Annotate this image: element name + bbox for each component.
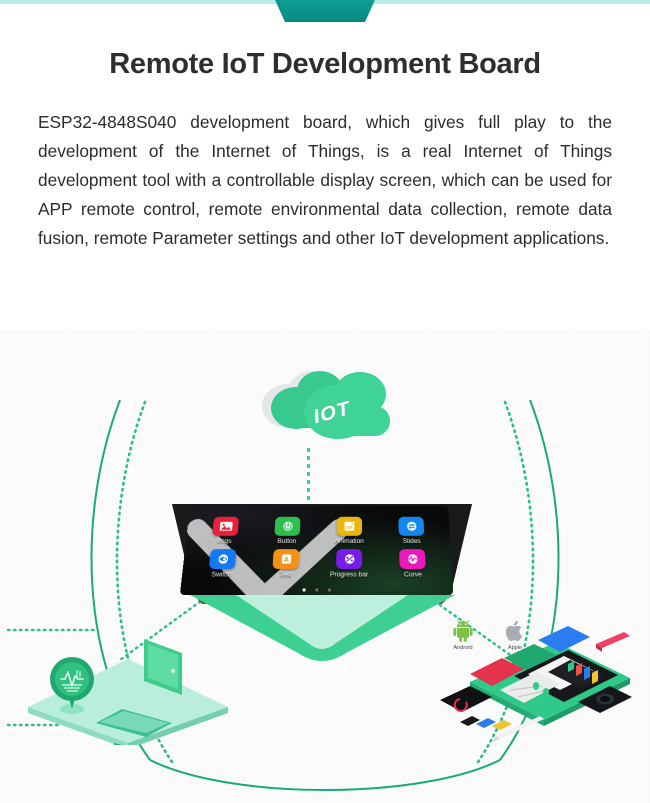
- app-tile[interactable]: Slides: [380, 517, 443, 545]
- page-description: ESP32-4848S040 development board, which …: [38, 108, 612, 253]
- top-notch-shape: [275, 0, 375, 22]
- platform-label: Apple: [492, 645, 538, 651]
- platform-label: Android: [440, 645, 486, 651]
- curve-icon: [405, 553, 420, 565]
- app-tile[interactable]: Switch: [189, 549, 255, 578]
- app-tile[interactable]: GIF Animation: [318, 517, 381, 545]
- page-dot[interactable]: [315, 588, 318, 591]
- app-icon[interactable]: [336, 549, 362, 569]
- image-icon: [218, 521, 233, 532]
- android-icon: [440, 618, 486, 644]
- app-label: Switch: [211, 571, 231, 578]
- platform-logos: Android Apple: [440, 618, 570, 664]
- svg-text:GIF: GIF: [345, 524, 353, 529]
- iot-cloud-graphic: IOT: [252, 358, 412, 458]
- app-icon[interactable]: A: [272, 549, 299, 569]
- power-icon: [280, 521, 295, 532]
- page-title: Remote IoT Development Board: [0, 48, 650, 81]
- app-tile[interactable]: Progress bar: [317, 549, 381, 578]
- app-label: Text: [279, 571, 292, 578]
- app-icon[interactable]: [209, 549, 237, 569]
- platform-apple: Apple: [492, 618, 538, 651]
- app-label: Animation: [335, 538, 364, 545]
- app-tile[interactable]: Button: [255, 517, 318, 545]
- board-screen: Imgs Button GIF Animation: [180, 506, 454, 595]
- slides-icon: [404, 521, 419, 532]
- page-dot[interactable]: [302, 588, 305, 591]
- dev-board-graphic: Imgs Button GIF Animation: [150, 498, 495, 610]
- page-dot[interactable]: [328, 588, 331, 591]
- app-icon[interactable]: [212, 517, 239, 536]
- app-icon[interactable]: [274, 517, 300, 536]
- text-a-icon: A: [278, 553, 293, 565]
- app-label: Button: [277, 538, 296, 545]
- apple-icon: [492, 618, 538, 644]
- app-icon[interactable]: GIF: [337, 517, 363, 536]
- app-tile[interactable]: Curve: [381, 549, 445, 578]
- app-label: Curve: [404, 571, 422, 578]
- progress-icon: [342, 553, 357, 565]
- sensor-devices-graphic: [10, 625, 250, 745]
- app-grid: Imgs Button GIF Animation: [189, 517, 445, 579]
- platform-android: Android: [440, 618, 486, 651]
- gif-icon: GIF: [342, 521, 356, 532]
- app-label: Progress bar: [330, 571, 368, 578]
- app-tile[interactable]: A Text: [253, 549, 318, 578]
- switch-icon: [215, 553, 231, 565]
- app-label: Slides: [403, 538, 421, 545]
- illustration-stage: IOT: [0, 330, 650, 803]
- app-icon[interactable]: [398, 517, 424, 536]
- svg-text:A: A: [283, 557, 289, 564]
- page-indicator[interactable]: [302, 588, 331, 591]
- app-icon[interactable]: [399, 549, 426, 569]
- page-root: Remote IoT Development Board ESP32-4848S…: [0, 0, 650, 803]
- app-label: Imgs: [217, 538, 232, 545]
- app-tile[interactable]: Imgs: [193, 517, 258, 545]
